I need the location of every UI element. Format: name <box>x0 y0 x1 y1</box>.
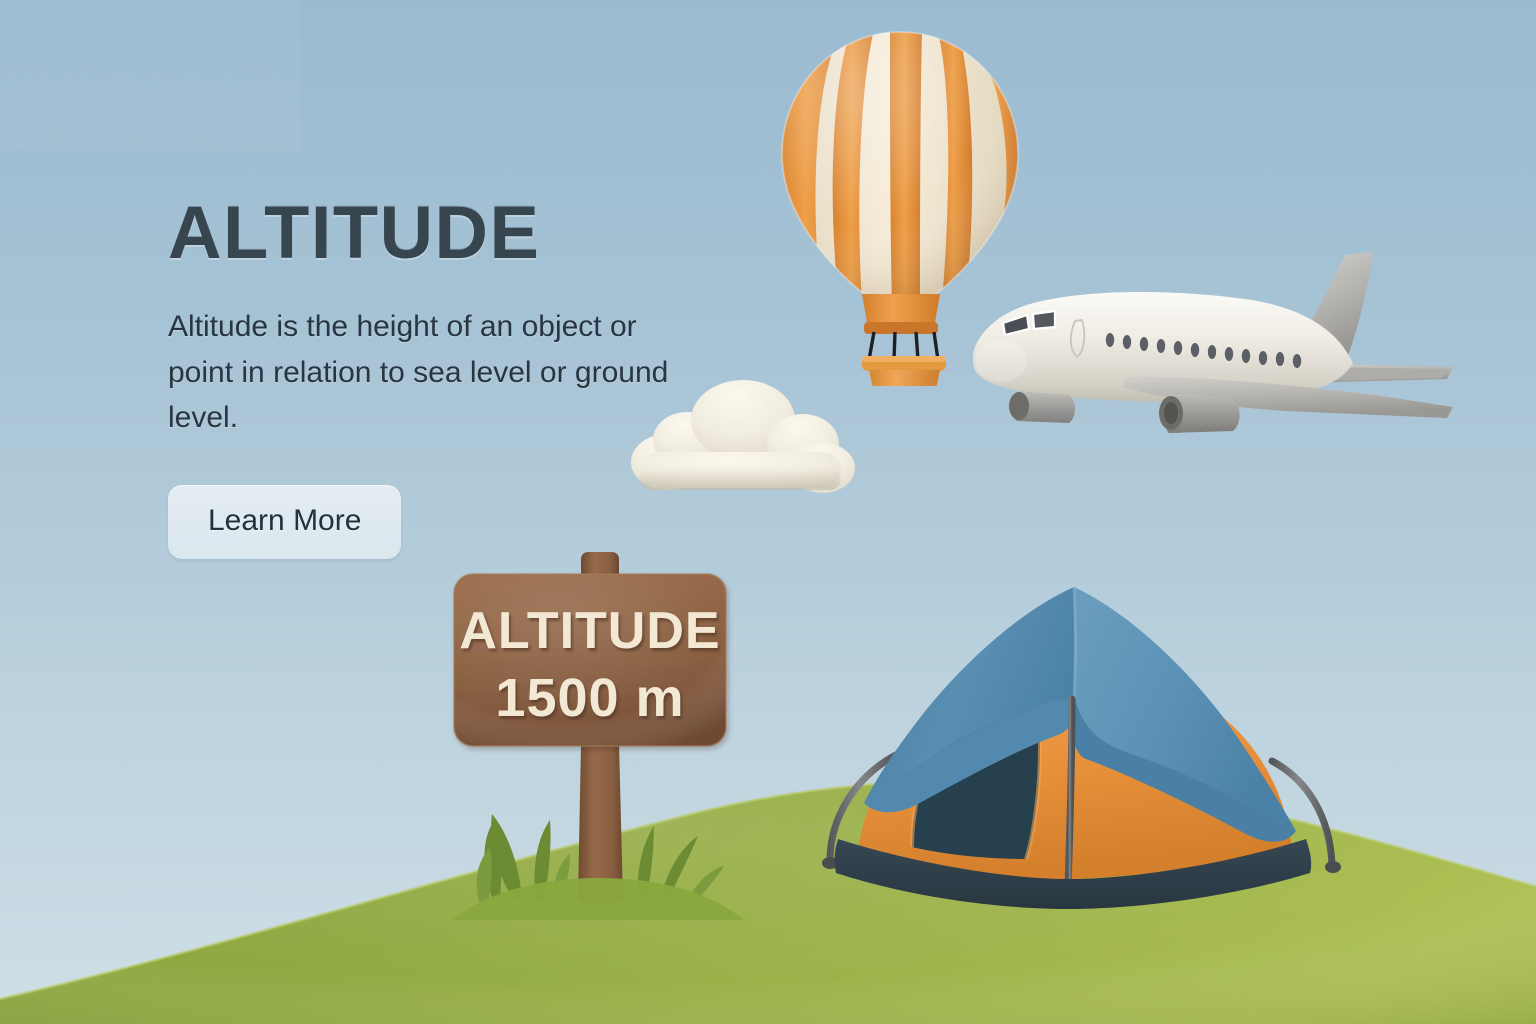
airplane-engine-rear <box>1159 393 1240 433</box>
learn-more-button[interactable]: Learn More <box>168 485 401 559</box>
sign-line-1: ALTITUDE <box>459 602 720 660</box>
balloon-cables <box>869 332 938 360</box>
airplane-nose-highlight <box>975 340 1027 382</box>
hero-banner: ALTITUDE Altitude is the height of an ob… <box>0 0 1536 1024</box>
balloon-basket <box>862 356 946 386</box>
tent-stake-right <box>1325 861 1341 873</box>
page-title: ALTITUDE <box>168 196 728 270</box>
sign-line-2: 1500 m <box>495 668 684 728</box>
tent-fly-ridge <box>1074 587 1076 697</box>
airplane-engine-front <box>1009 391 1075 423</box>
hero-copy: ALTITUDE Altitude is the height of an ob… <box>168 196 728 559</box>
tent-pole-center <box>1068 699 1072 887</box>
camping-tent-icon <box>800 565 1360 910</box>
hero-description: Altitude is the height of an object or p… <box>168 304 688 441</box>
altitude-signpost: ALTITUDE 1500 m <box>440 548 760 938</box>
airplane-icon <box>955 245 1465 465</box>
